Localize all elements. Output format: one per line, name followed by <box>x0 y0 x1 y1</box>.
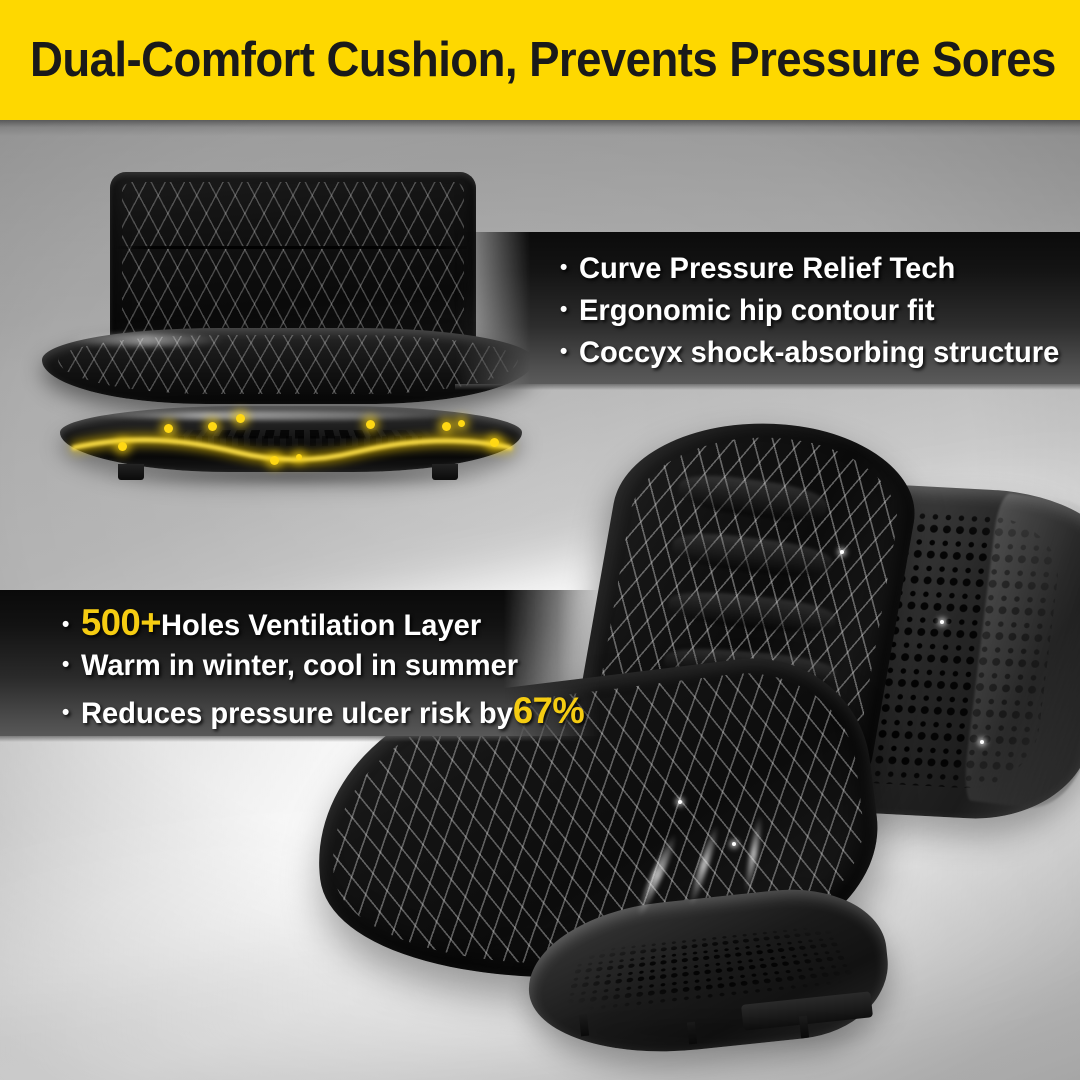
base-led-dot <box>270 456 279 465</box>
feature-list-bottom: • 500+ Holes Ventilation Layer • Warm in… <box>62 600 600 732</box>
product-infographic: Dual-Comfort Cushion, Prevents Pressure … <box>0 0 1080 1080</box>
list-item: • 500+ Holes Ventilation Layer <box>62 600 584 644</box>
sparkle <box>940 620 944 624</box>
bullet-dot-icon: • <box>62 701 69 723</box>
page-title: Dual-Comfort Cushion, Prevents Pressure … <box>30 32 1056 88</box>
header-drop-shadow <box>0 120 1080 136</box>
base-led-dot <box>236 414 245 423</box>
feature-text: Holes Ventilation Layer <box>161 604 481 648</box>
sparkle <box>840 550 844 554</box>
base-led-dot <box>208 422 217 431</box>
feature-text: Coccyx shock-absorbing structure <box>579 332 1059 374</box>
feature-band-bottom-edge <box>0 736 600 742</box>
bullet-dot-icon: • <box>560 298 567 320</box>
cushion-backrest-seam <box>114 246 472 249</box>
bullet-dot-icon: • <box>560 256 567 278</box>
list-item: • Reduces pressure ulcer risk by 67% <box>62 688 584 732</box>
cushion-backrest-mesh <box>110 172 476 352</box>
list-item: • Curve Pressure Relief Tech <box>560 248 1059 290</box>
feature-text: Ergonomic hip contour fit <box>579 290 935 332</box>
bullet-dot-icon: • <box>62 613 69 635</box>
bullet-dot-icon: • <box>560 340 567 362</box>
stat-highlight: 67% <box>513 688 584 732</box>
base-led-dot <box>164 424 173 433</box>
feature-list-top: • Curve Pressure Relief Tech • Ergonomic… <box>560 248 1075 374</box>
seat-pan-contact-shadow <box>550 1020 880 1042</box>
cushion-seat-highlight <box>66 334 226 346</box>
bullet-dot-icon: • <box>62 653 69 675</box>
list-item: • Coccyx shock-absorbing structure <box>560 332 1059 374</box>
sparkle <box>732 842 736 846</box>
header-banner: Dual-Comfort Cushion, Prevents Pressure … <box>0 0 1080 120</box>
feature-text: Warm in winter, cool in summer <box>81 644 518 688</box>
feature-text: Curve Pressure Relief Tech <box>579 248 955 290</box>
feature-text: Reduces pressure ulcer risk by <box>81 692 513 736</box>
sparkle <box>678 800 682 804</box>
base-led-dot <box>118 442 127 451</box>
feature-band-top-edge <box>455 384 1080 390</box>
sparkle <box>980 740 984 744</box>
list-item: • Ergonomic hip contour fit <box>560 290 1059 332</box>
list-item: • Warm in winter, cool in summer <box>62 644 584 688</box>
stat-highlight: 500+ <box>81 600 161 644</box>
